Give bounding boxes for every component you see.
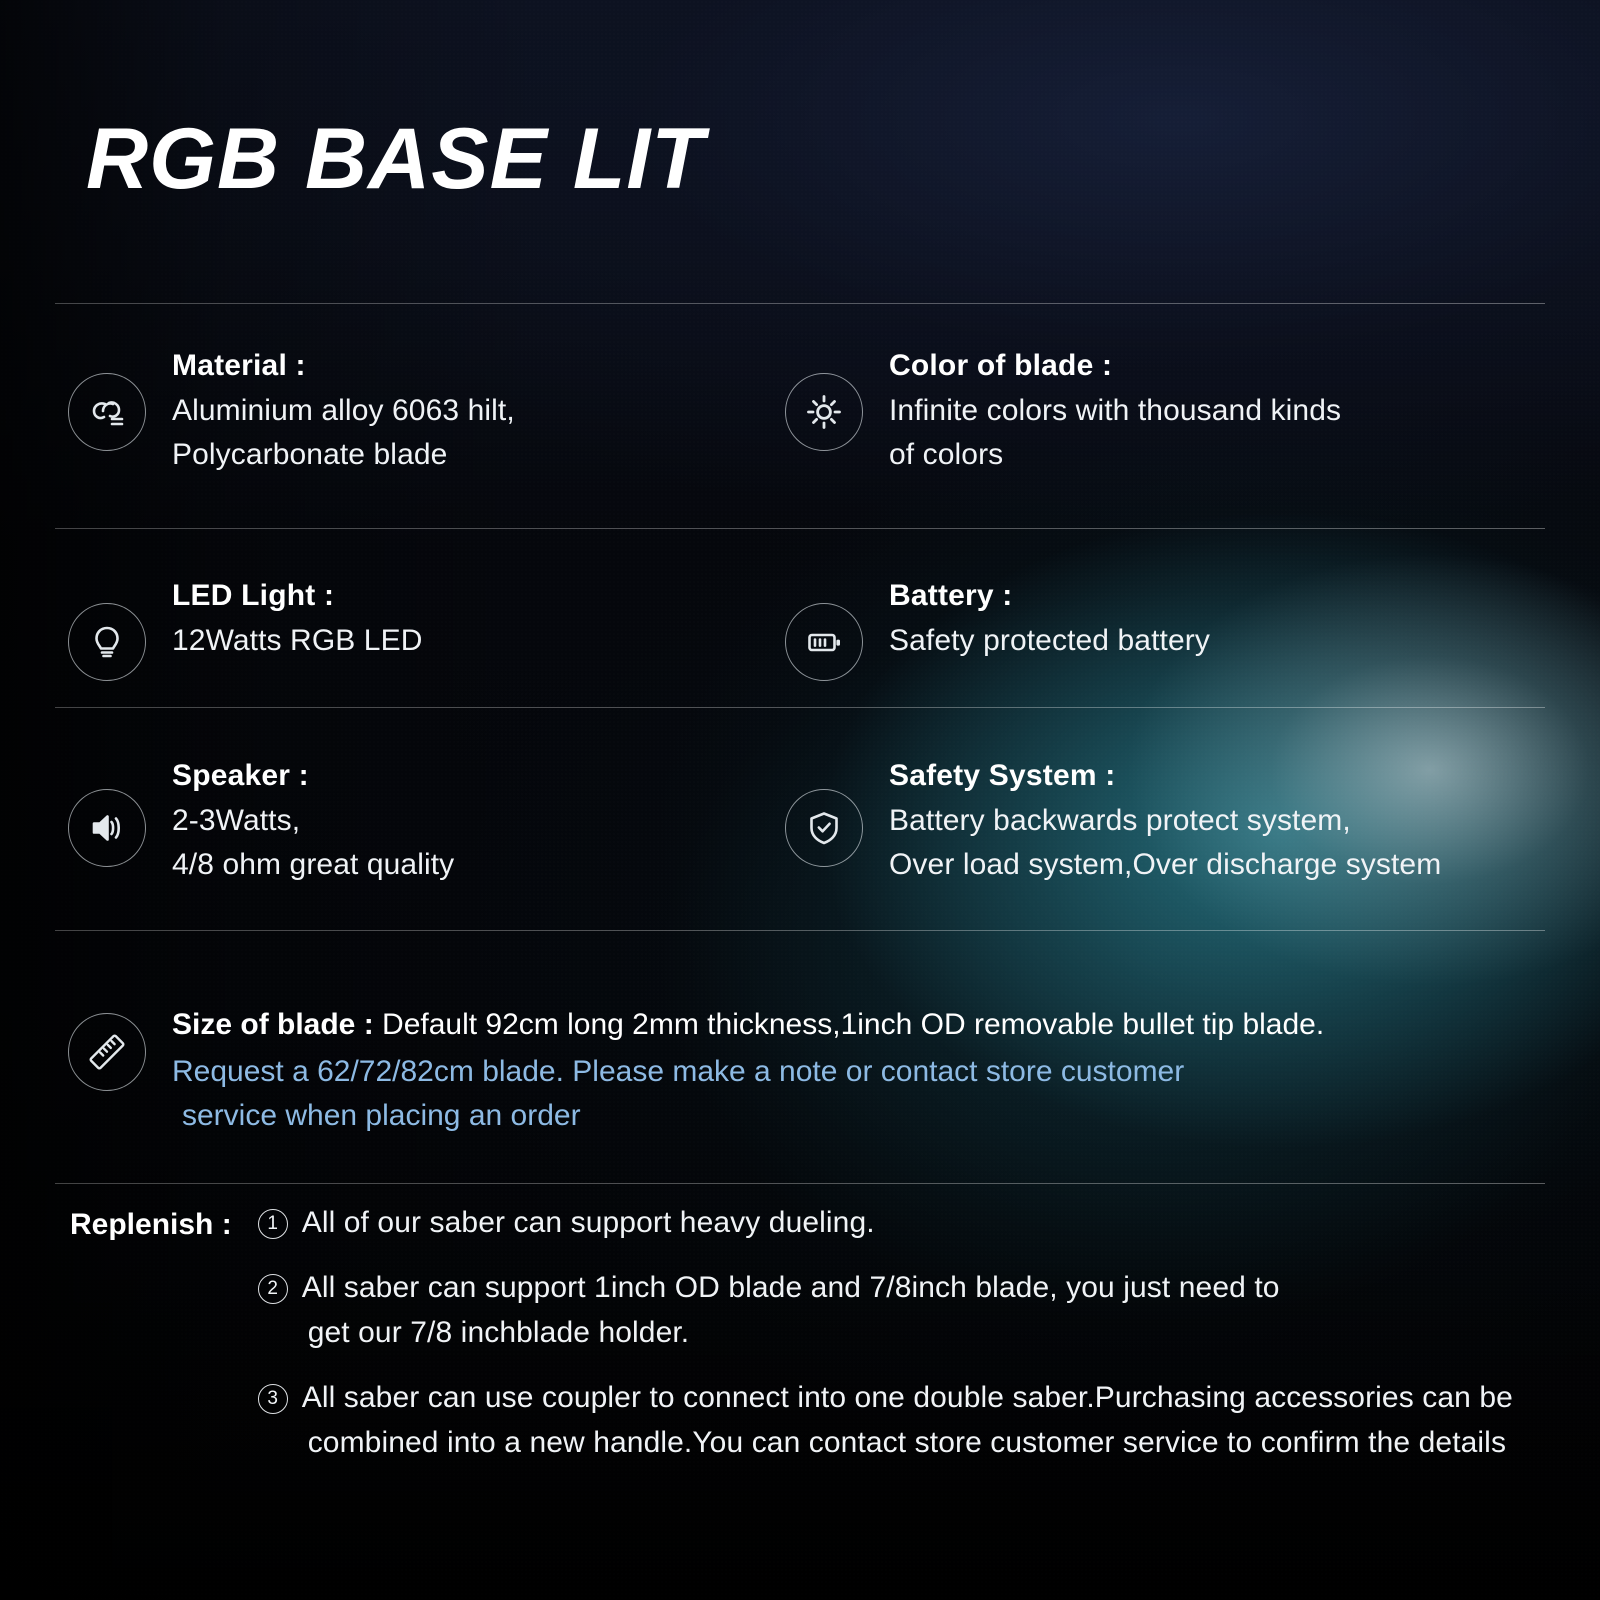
feature-heading: Battery :: [889, 577, 1210, 615]
feature-line: Over load system,Over discharge system: [889, 843, 1441, 887]
feature-line: of colors: [889, 433, 1341, 477]
divider-row2: [55, 707, 1545, 708]
list-item-line: All saber can support 1inch OD blade and…: [302, 1265, 1280, 1310]
list-item-number: 2: [258, 1274, 288, 1304]
list-item-number: 1: [258, 1209, 288, 1239]
link-chain-icon: [68, 373, 146, 451]
list-item: 3 All saber can use coupler to connect i…: [258, 1375, 1513, 1465]
feature-line: Infinite colors with thousand kinds: [889, 389, 1341, 433]
replenish-section: Replenish : 1 All of our saber can suppo…: [70, 1200, 1570, 1485]
list-item-number: 3: [258, 1384, 288, 1414]
feature-size-of-blade: Size of blade : Default 92cm long 2mm th…: [68, 1005, 1568, 1139]
feature-heading: Color of blade :: [889, 347, 1341, 385]
size-of-blade-value: Default 92cm long 2mm thickness,1inch OD…: [382, 1008, 1324, 1041]
feature-line: 4/8 ohm great quality: [172, 843, 454, 887]
feature-material: Material : Aluminium alloy 6063 hilt, Po…: [68, 345, 768, 477]
feature-led-light: LED Light : 12Watts RGB LED: [68, 575, 768, 681]
list-item-line: combined into a new handle.You can conta…: [302, 1420, 1513, 1465]
feature-battery: Battery : Safety protected battery: [785, 575, 1575, 681]
list-item: 2 All saber can support 1inch OD blade a…: [258, 1265, 1513, 1355]
size-note-line-2: service when placing an order: [172, 1094, 1324, 1138]
size-of-blade-note: Request a 62/72/82cm blade. Please make …: [172, 1050, 1324, 1139]
divider-replenish: [55, 1183, 1545, 1184]
divider-top: [55, 303, 1545, 304]
feature-line: Safety protected battery: [889, 619, 1210, 663]
size-of-blade-label: Size of blade :: [172, 1008, 374, 1041]
feature-heading: Safety System :: [889, 757, 1441, 795]
feature-heading: Material :: [172, 347, 515, 385]
battery-icon: [785, 603, 863, 681]
ruler-icon: [68, 1013, 146, 1091]
product-spec-infographic: RGB BASE LIT Material : Aluminium alloy …: [0, 0, 1600, 1600]
replenish-label: Replenish :: [70, 1200, 232, 1247]
divider-row1: [55, 528, 1545, 529]
replenish-list: 1 All of our saber can support heavy due…: [258, 1200, 1513, 1485]
feature-line: 12Watts RGB LED: [172, 619, 422, 663]
list-item-line: All saber can use coupler to connect int…: [302, 1375, 1513, 1420]
list-item-text: All of our saber can support heavy dueli…: [302, 1200, 875, 1245]
shield-check-icon: [785, 789, 863, 867]
speaker-volume-icon: [68, 789, 146, 867]
feature-heading: Speaker :: [172, 757, 454, 795]
size-of-blade-line: Size of blade : Default 92cm long 2mm th…: [172, 1005, 1324, 1044]
brightness-sun-icon: [785, 373, 863, 451]
feature-line: Polycarbonate blade: [172, 433, 515, 477]
feature-speaker: Speaker : 2-3Watts, 4/8 ohm great qualit…: [68, 755, 768, 887]
feature-safety-system: Safety System : Battery backwards protec…: [785, 755, 1575, 887]
list-item-line: All of our saber can support heavy dueli…: [302, 1200, 875, 1245]
list-item: 1 All of our saber can support heavy due…: [258, 1200, 1513, 1245]
list-item-text: All saber can support 1inch OD blade and…: [302, 1265, 1280, 1355]
list-item-line: get our 7/8 inchblade holder.: [302, 1310, 1280, 1355]
size-note-line-1: Request a 62/72/82cm blade. Please make …: [172, 1055, 1184, 1088]
divider-row3: [55, 930, 1545, 931]
feature-line: 2-3Watts,: [172, 799, 454, 843]
feature-line: Battery backwards protect system,: [889, 799, 1441, 843]
feature-heading: LED Light :: [172, 577, 422, 615]
feature-color-of-blade: Color of blade : Infinite colors with th…: [785, 345, 1575, 477]
lightbulb-icon: [68, 603, 146, 681]
page-title: RGB BASE LIT: [86, 116, 705, 202]
list-item-text: All saber can use coupler to connect int…: [302, 1375, 1513, 1465]
feature-line: Aluminium alloy 6063 hilt,: [172, 389, 515, 433]
